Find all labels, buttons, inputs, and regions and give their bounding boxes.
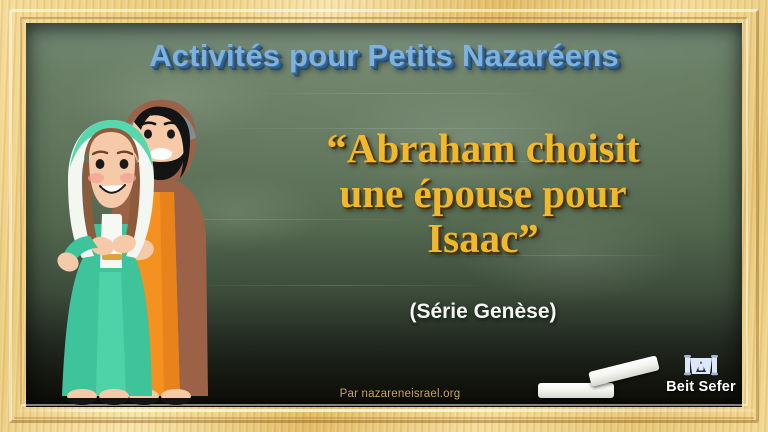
man-eye-left (144, 129, 152, 138)
torah-scroll-icon (683, 351, 719, 379)
lesson-title-line-3: Isaac” (262, 216, 704, 261)
lesson-title-line-1: “Abraham choisit (262, 126, 704, 171)
man-eye-right (167, 129, 175, 138)
woman-eye-left (96, 159, 105, 169)
credit-text: Par nazareneisrael.org (300, 388, 500, 400)
page-title: Activités pour Petits Nazaréens (0, 38, 768, 74)
slide-scene: Activités pour Petits Nazaréens “Abraham… (0, 0, 768, 432)
chalk-ledge-shadow (14, 417, 754, 419)
lesson-title: “Abraham choisit une épouse pour Isaac” (262, 126, 704, 261)
lesson-title-line-2: une épouse pour (262, 171, 704, 216)
abraham-and-woman-illustration (40, 96, 230, 408)
chalk-ledge-highlight (14, 409, 754, 412)
beit-sefer-label: Beit Sefer (666, 379, 736, 395)
series-subtitle: (Série Genèse) (262, 300, 704, 324)
beit-sefer-logo[interactable]: Beit Sefer (662, 344, 740, 402)
chalk-stick-horizontal (538, 383, 614, 398)
woman-eye-right (120, 159, 129, 169)
